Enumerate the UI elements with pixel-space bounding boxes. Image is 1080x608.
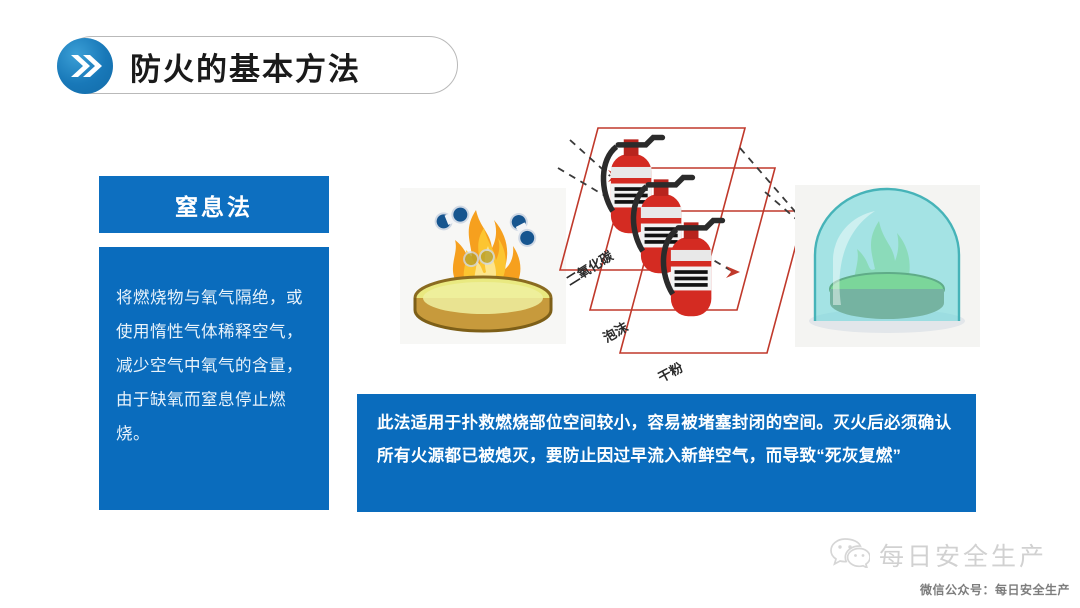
method-description-text: 将燃烧物与氧气隔绝，或使用惰性气体稀释空气，减少空气中氧气的含量，由于缺氧而窒息… (116, 289, 303, 443)
watermark: 每日安全生产 微信公众号：每日安全生产 (830, 536, 1070, 598)
note-banner: 此法适用于扑救燃烧部位空间较小，容易被堵塞封闭的空间。灭火后必须确认所有火源都已… (357, 394, 976, 512)
watermark-account-name: 每日安全生产 (879, 537, 1047, 573)
glass-dome-image (795, 185, 980, 347)
page-title: 防火的基本方法 (130, 38, 361, 94)
illustration-area: 二氧化碳 泡沫 干粉 (350, 110, 1010, 395)
burning-pan-image (400, 188, 566, 344)
note-banner-text: 此法适用于扑救燃烧部位空间较小，容易被堵塞封闭的空间。灭火后必须确认所有火源都已… (377, 414, 952, 465)
double-chevron-right-icon (57, 38, 113, 94)
slide-canvas: 防火的基本方法 窒息法 将燃烧物与氧气隔绝，或使用惰性气体稀释空气，减少空气中氧… (0, 0, 1080, 608)
watermark-subtitle: 微信公众号：每日安全生产 (830, 581, 1070, 598)
method-title-label: 窒息法 (175, 188, 253, 222)
method-description-box: 将燃烧物与氧气隔绝，或使用惰性气体稀释空气，减少空气中氧气的含量，由于缺氧而窒息… (99, 247, 329, 510)
method-title-box: 窒息法 (99, 176, 329, 233)
wechat-icon (830, 536, 870, 573)
